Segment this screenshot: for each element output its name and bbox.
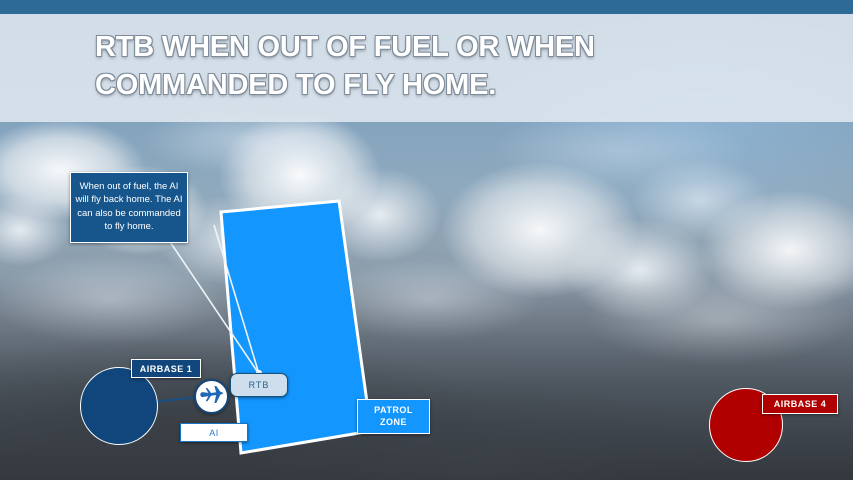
patrol-zone-label[interactable]: PATROL ZONE [357,399,430,434]
note-callout: When out of fuel, the AI will fly back h… [70,172,188,243]
airbase-4-label[interactable]: AIRBASE 4 [762,394,838,414]
page-title: RTB WHEN OUT OF FUEL OR WHEN COMMANDED T… [95,28,795,105]
slide-canvas: RTB WHEN OUT OF FUEL OR WHEN COMMANDED T… [0,0,853,480]
airbase-1-label[interactable]: AIRBASE 1 [131,359,201,378]
ai-aircraft-marker[interactable] [194,379,229,414]
ai-unit-label[interactable]: AI [180,423,248,442]
fighter-jet-icon [199,384,224,409]
rtb-callout-label[interactable]: RTB [230,373,288,397]
airbase-1-marker[interactable] [80,367,158,445]
accent-strip [0,0,853,14]
